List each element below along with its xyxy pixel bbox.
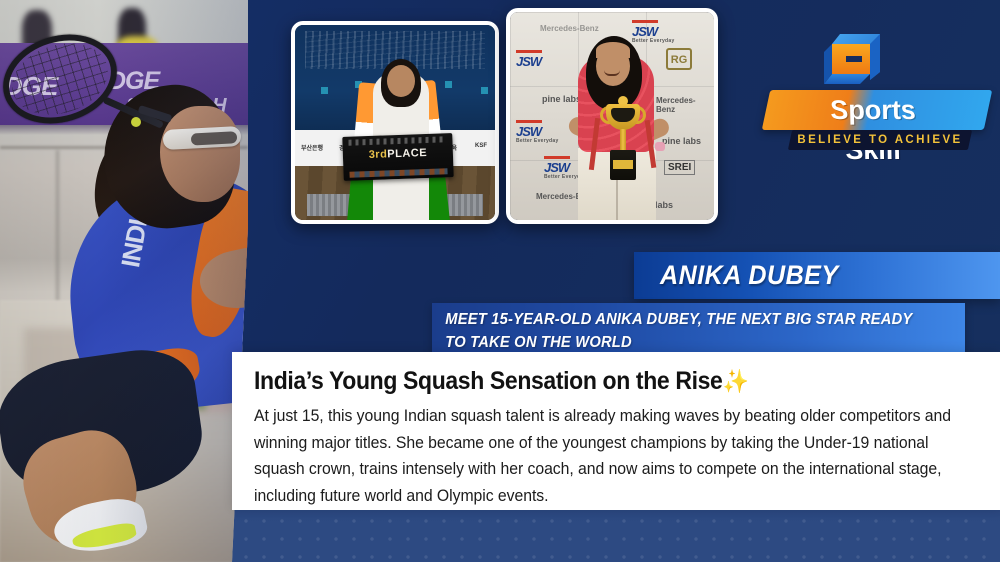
sponsor-logo-jsw: JSW — [516, 50, 542, 69]
third-place-certificate: 3rdPLACE — [342, 133, 453, 181]
tagline-text: BELIEVE TO ACHIEVE — [790, 130, 970, 150]
sponsor-logo-pinelabs: pine labs — [662, 136, 701, 146]
sponsor-crest-icon: RG — [666, 48, 692, 70]
sponsor-label: 부산은행 — [301, 143, 323, 152]
subtitle-bar: MEET 15-YEAR-OLD ANIKA DUBEY, THE NEXT B… — [432, 303, 965, 354]
sponsor-logo-jsw: JSW — [516, 120, 542, 139]
athlete-face — [387, 65, 415, 97]
athlete-name: ANIKA DUBEY — [634, 252, 974, 299]
article-headline-text: India’s Young Squash Sensation on the Ri… — [254, 367, 722, 395]
hero-squash-action-photo: DGE DGE SQUASH INDIA — [0, 0, 248, 562]
sponsor-logo-srei: SREI — [664, 160, 695, 175]
article-panel: India’s Young Squash Sensation on the Ri… — [232, 352, 1000, 510]
sponsor-logo-jsw: JSW — [632, 20, 658, 39]
third-place-podium-photo: 부산은행 경북 경상북도 문화체육 KSF 3rdPLACE — [291, 21, 499, 224]
sportsskill-tagline: BELIEVE TO ACHIEVE — [788, 130, 972, 150]
sportsskill-wordmark: SportsSkill — [762, 90, 993, 130]
sponsor-logo-mercedes: Mercedes-Benz — [540, 24, 599, 33]
sponsor-logo-pinelabs: pine labs — [542, 94, 581, 104]
trophy-presentation-photo: JSW Better Everyday JSW JSW Better Every… — [506, 8, 718, 224]
certificate-rank-text: 3rdPLACE — [343, 146, 453, 162]
certificate-rank: 3rd — [369, 148, 388, 161]
subtitle-text: MEET 15-YEAR-OLD ANIKA DUBEY, THE NEXT B… — [432, 303, 938, 354]
trophy-stem — [620, 129, 626, 151]
wall-marker — [481, 87, 488, 94]
sportsskill-logo[interactable]: SportsSkill BELIEVE TO ACHIEVE — [760, 26, 992, 158]
article-body: At just 15, this young Indian squash tal… — [254, 403, 960, 509]
wordmark-sports: Sports — [757, 90, 988, 130]
trophy-nameplate — [613, 160, 633, 169]
photo-vignette — [0, 0, 248, 562]
athlete-forehead — [596, 42, 630, 58]
sponsor-logo-jsw: JSW — [544, 156, 570, 175]
wristband — [655, 142, 665, 151]
athlete-name-bar: ANIKA DUBEY — [634, 252, 1000, 299]
sponsor-tagline: Better Everyday — [632, 38, 675, 44]
poster-canvas: DGE DGE SQUASH INDIA — [0, 0, 1000, 562]
article-headline: India’s Young Squash Sensation on the Ri… — [254, 366, 920, 396]
sparkles-icon: ✨ — [722, 368, 748, 394]
sponsor-tagline: Better Everyday — [516, 138, 559, 144]
article-panel-inner: India’s Young Squash Sensation on the Ri… — [232, 352, 1000, 509]
sponsor-label: KSF — [475, 143, 487, 149]
certificate-top-text — [348, 136, 446, 145]
hero-photo-content: DGE DGE SQUASH INDIA — [0, 0, 248, 562]
sponsor-logo-mercedes: Mercedes-Benz — [656, 96, 714, 114]
certificate-sponsor-row — [349, 168, 447, 177]
wall-marker — [445, 81, 452, 88]
sportsskill-monogram-icon — [824, 28, 886, 86]
certificate-place-word: PLACE — [387, 147, 427, 160]
wall-marker — [321, 87, 328, 94]
